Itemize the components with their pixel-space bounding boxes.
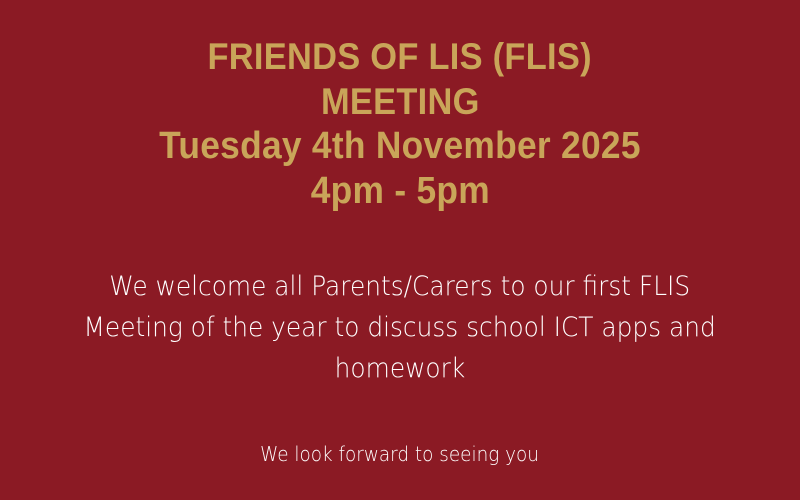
poster-body-line-1: We welcome all Parents/Carers to our fir… (110, 266, 691, 307)
poster-closing-block: We look forward to seeing you (0, 441, 800, 467)
poster-body-block: We welcome all Parents/Carers to our fir… (50, 266, 750, 389)
meeting-notice-poster: FRIENDS OF LIS (FLIS) MEETING Tuesday 4t… (0, 0, 800, 500)
poster-title-line-2: MEETING (321, 79, 480, 124)
poster-title-line-1: FRIENDS OF LIS (FLIS) (208, 34, 592, 79)
poster-meeting-time: 4pm - 5pm (310, 169, 489, 214)
poster-body-line-2: Meeting of the year to discuss school IC… (84, 307, 716, 348)
poster-meeting-date: Tuesday 4th November 2025 (159, 124, 641, 169)
poster-closing-line: We look forward to seeing you (261, 441, 540, 467)
poster-heading-block: FRIENDS OF LIS (FLIS) MEETING Tuesday 4t… (0, 34, 800, 214)
poster-body-line-3: homework (335, 348, 466, 389)
